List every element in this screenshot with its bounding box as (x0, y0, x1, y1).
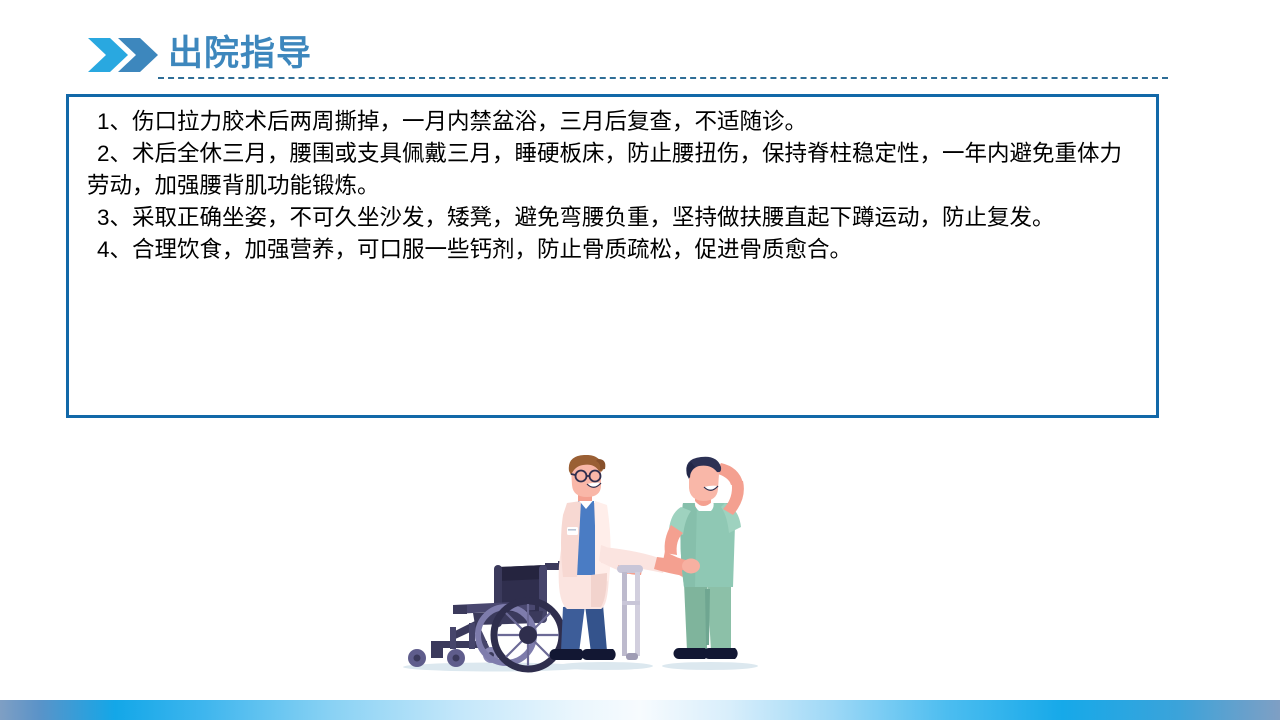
list-item: 4、合理饮食，加强营养，可口服一些钙剂，防止骨质疏松，促进骨质愈合。 (87, 234, 1143, 266)
patient-figure (663, 457, 744, 659)
list-item: 3、采取正确坐姿，不可久坐沙发，矮凳，避免弯腰负重，坚持做扶腰直起下蹲运动，防止… (87, 202, 1143, 234)
slide-header: 出院指导 (0, 0, 1280, 90)
doctor-patient-rehabilitation-illustration (395, 455, 775, 685)
list-item: 1、伤口拉力胶术后两周撕掉，一月内禁盆浴，三月后复查，不适随诊。 (87, 106, 1143, 138)
crutch-icon (617, 565, 643, 660)
list-item: 2、术后全休三月，腰围或支具佩戴三月，睡硬板床，防止腰扭伤，保持脊柱稳定性，一年… (87, 138, 1143, 202)
double-chevron-right-icon (88, 38, 160, 72)
title-underline-divider (158, 77, 1168, 79)
discharge-instructions-box: 1、伤口拉力胶术后两周撕掉，一月内禁盆浴，三月后复查，不适随诊。 2、术后全休三… (66, 94, 1159, 418)
instructions-list: 1、伤口拉力胶术后两周撕掉，一月内禁盆浴，三月后复查，不适随诊。 2、术后全休三… (87, 106, 1143, 266)
page-title: 出院指导 (168, 33, 312, 75)
bottom-gradient-bar (0, 700, 1280, 720)
